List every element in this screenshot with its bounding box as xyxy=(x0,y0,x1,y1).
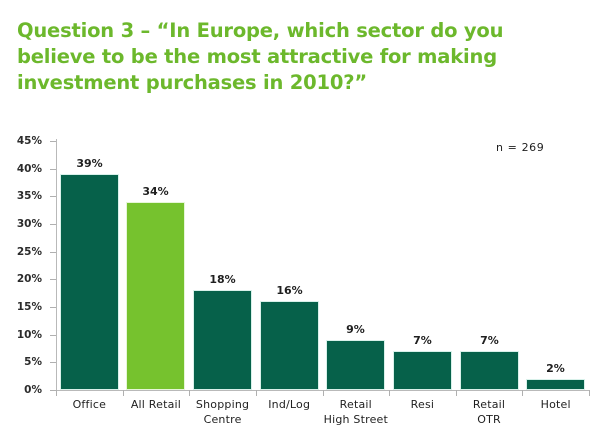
y-axis-tick-label: 0% xyxy=(8,385,42,395)
bar[interactable] xyxy=(126,202,185,390)
x-axis-tick xyxy=(389,390,390,396)
bar[interactable] xyxy=(193,290,252,390)
bar[interactable] xyxy=(526,379,585,390)
y-axis-tick-label: 45% xyxy=(8,136,42,146)
y-axis-tick-label: 30% xyxy=(8,219,42,229)
y-axis-line xyxy=(56,139,57,391)
y-axis-tick xyxy=(50,224,56,225)
sample-size-annotation: n = 269 xyxy=(496,141,544,154)
bar-value-label: 39% xyxy=(40,158,139,170)
y-axis-tick xyxy=(50,141,56,142)
x-axis-tick xyxy=(323,390,324,396)
y-axis-tick-label: 10% xyxy=(8,330,42,340)
y-axis-tick xyxy=(50,362,56,363)
bar-value-label: 2% xyxy=(506,363,600,375)
y-axis-tick xyxy=(50,279,56,280)
bar[interactable] xyxy=(326,340,385,390)
x-axis-tick xyxy=(189,390,190,396)
y-axis-tick-label: 25% xyxy=(8,247,42,257)
x-axis-tick xyxy=(589,390,590,396)
y-axis-tick xyxy=(50,335,56,336)
x-axis-category-label: Hotel xyxy=(513,397,598,412)
x-axis-tick xyxy=(456,390,457,396)
bar-value-label: 34% xyxy=(106,186,205,198)
y-axis-tick xyxy=(50,196,56,197)
bar-chart-plot-area: 0%5%10%15%20%25%30%35%40%45% 39%34%18%16… xyxy=(0,0,600,445)
bar-value-label: 7% xyxy=(440,335,539,347)
bar[interactable] xyxy=(393,351,452,390)
x-axis-tick xyxy=(522,390,523,396)
x-axis-tick xyxy=(256,390,257,396)
x-axis-tick xyxy=(56,390,57,396)
y-axis-tick xyxy=(50,252,56,253)
y-axis-tick-label: 15% xyxy=(8,302,42,312)
bar-value-label: 16% xyxy=(240,285,339,297)
bar[interactable] xyxy=(60,174,119,390)
y-axis-tick xyxy=(50,307,56,308)
y-axis-tick-label: 5% xyxy=(8,357,42,367)
y-axis-tick-label: 40% xyxy=(8,164,42,174)
bar[interactable] xyxy=(260,301,319,390)
y-axis-tick-label: 35% xyxy=(8,191,42,201)
y-axis-tick-label: 20% xyxy=(8,274,42,284)
x-axis-tick xyxy=(123,390,124,396)
